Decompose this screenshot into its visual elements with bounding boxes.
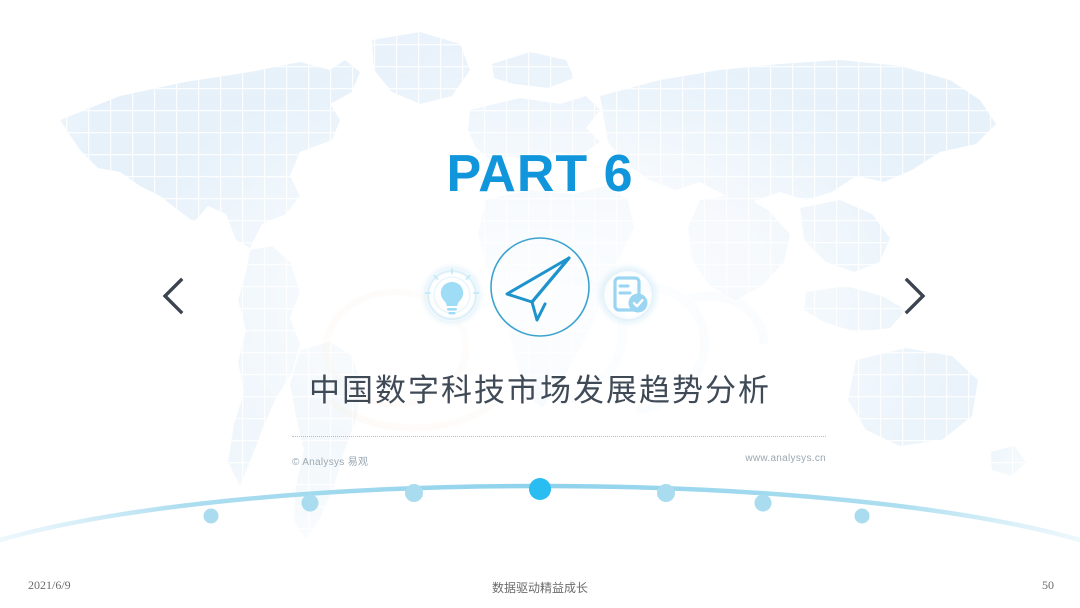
- previous-slide-button[interactable]: [152, 272, 196, 320]
- progress-dot[interactable]: [302, 495, 319, 512]
- chevron-left-icon: [152, 272, 196, 320]
- progress-dot[interactable]: [405, 484, 423, 502]
- icon-cluster: [415, 232, 665, 360]
- part-heading: PART 6: [0, 148, 1080, 200]
- credits-divider: [292, 436, 826, 438]
- chevron-right-icon: [892, 272, 936, 320]
- progress-dot[interactable]: [204, 509, 219, 524]
- progress-dot[interactable]: [657, 484, 675, 502]
- page-number: 50: [1042, 578, 1054, 593]
- next-slide-button[interactable]: [892, 272, 936, 320]
- lightbulb-icon: [415, 258, 489, 332]
- presentation-slide: PART 6: [0, 0, 1080, 608]
- progress-arc-svg: [0, 460, 1080, 550]
- page-title: 中国数字科技市场发展趋势分析: [0, 372, 1080, 409]
- progress-dot[interactable]: [855, 509, 870, 524]
- progress-arc: [0, 460, 1080, 550]
- progress-dot-active[interactable]: [529, 478, 551, 500]
- progress-dots: [204, 478, 870, 524]
- footer-tagline: 数据驱动精益成长: [0, 579, 1080, 596]
- progress-dot[interactable]: [755, 495, 772, 512]
- slide-footer: 2021/6/9 数据驱动精益成长 50: [0, 566, 1080, 608]
- paper-plane-icon: [485, 232, 595, 342]
- document-check-icon: [591, 258, 665, 332]
